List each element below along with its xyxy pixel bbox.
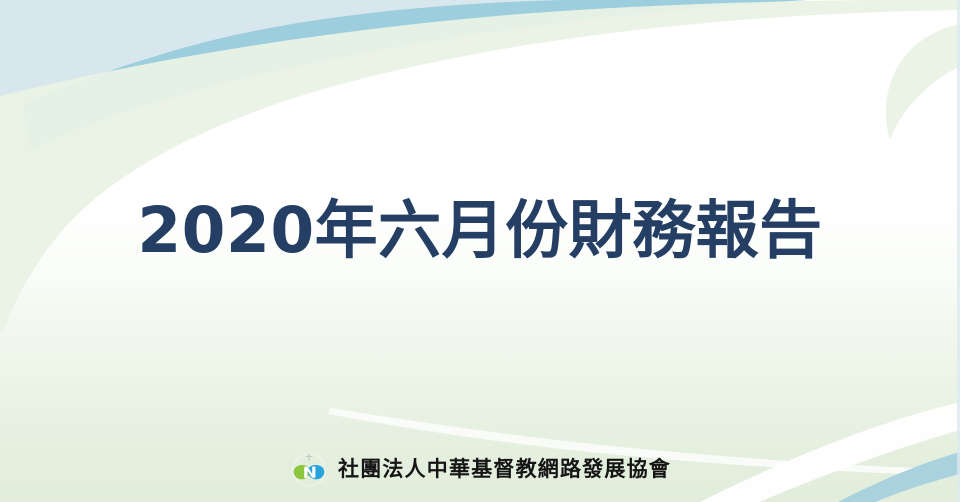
pale-blue-band xyxy=(0,0,790,138)
title-block: 2020年六月份財務報告 xyxy=(0,196,960,267)
slide-footer: 社團法人中華基督教網路發展協會 xyxy=(0,449,960,489)
page-title: 2020年六月份財務報告 xyxy=(137,196,822,267)
pale-green-band-sweep xyxy=(0,0,960,330)
organization-name: 社團法人中華基督教網路發展協會 xyxy=(338,459,671,480)
presentation-slide: 2020年六月份財務報告 社團法人中華基督教網路發展協會 xyxy=(0,0,960,502)
pale-green-arc-right xyxy=(886,24,960,140)
pale-green-band-top xyxy=(0,0,250,330)
association-logo-icon xyxy=(289,449,329,489)
teal-band xyxy=(24,0,808,150)
